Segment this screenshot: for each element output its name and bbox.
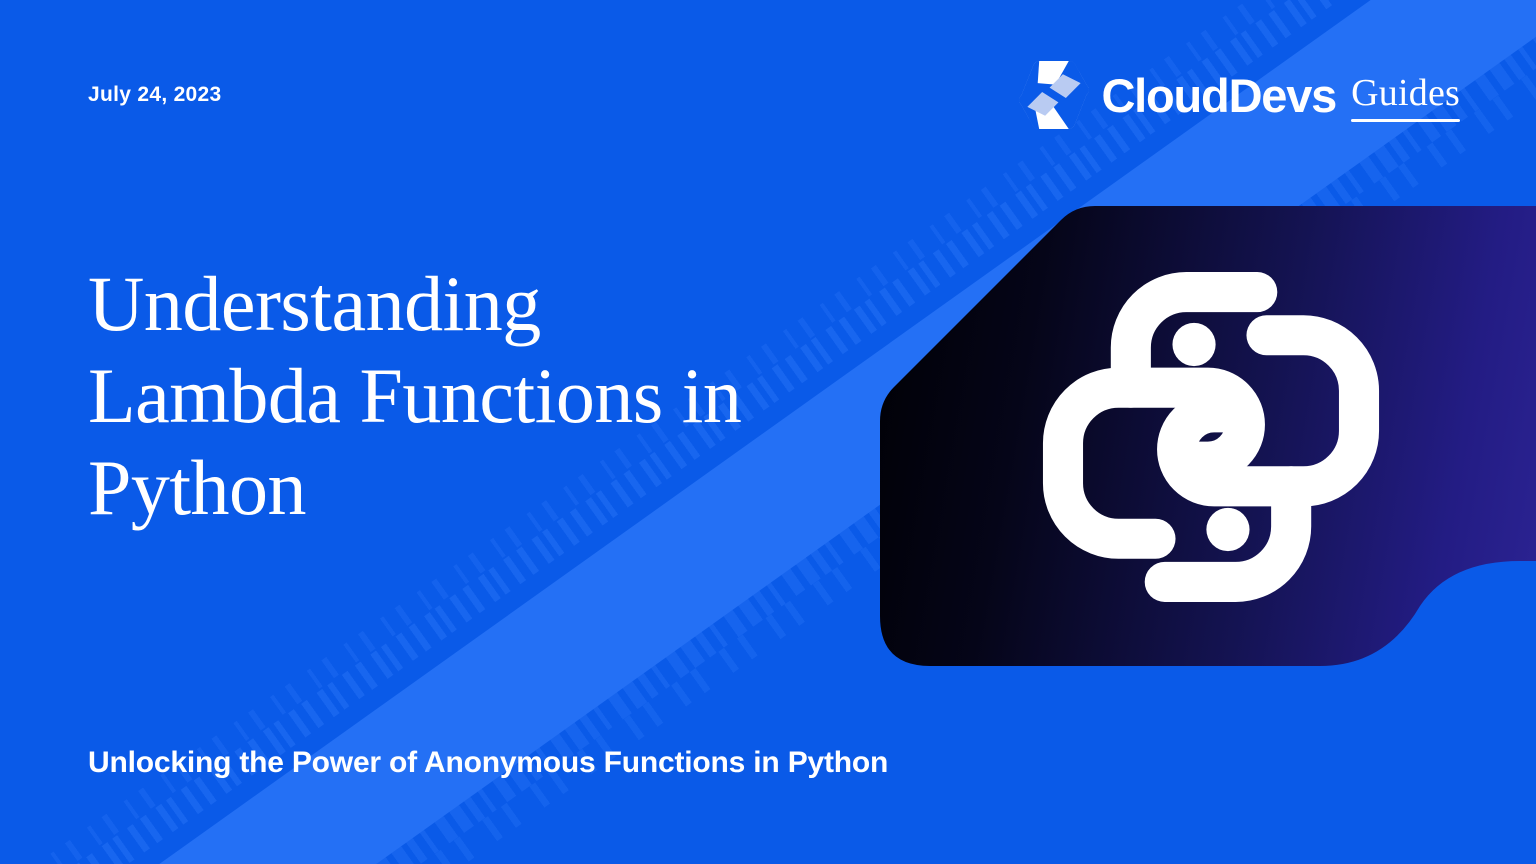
page-title-line-3: Python — [88, 444, 306, 531]
brand-wordmark: CloudDevs — [1101, 72, 1336, 119]
publication-date: July 24, 2023 — [88, 83, 222, 107]
clouddevs-hexagon-swoosh-icon — [1017, 58, 1091, 132]
brand-suffix-group: Guides — [1351, 68, 1460, 122]
python-logo-icon — [1026, 252, 1396, 622]
article-cover-poster: July 24, 2023 Clo — [0, 0, 1536, 864]
page-subtitle: Unlocking the Power of Anonymous Functio… — [88, 746, 888, 780]
page-title: Understanding Lambda Functions in Python — [88, 258, 848, 534]
python-eye-lower — [1206, 508, 1249, 551]
python-eye-upper — [1172, 323, 1215, 366]
brand-suffix-underline — [1351, 119, 1460, 122]
hero-card — [880, 206, 1536, 666]
brand-logo[interactable]: CloudDevs Guides — [1017, 58, 1460, 132]
page-title-line-2: Lambda Functions in — [88, 352, 741, 439]
page-title-line-1: Understanding — [88, 260, 541, 347]
brand-suffix-label: Guides — [1351, 74, 1460, 112]
